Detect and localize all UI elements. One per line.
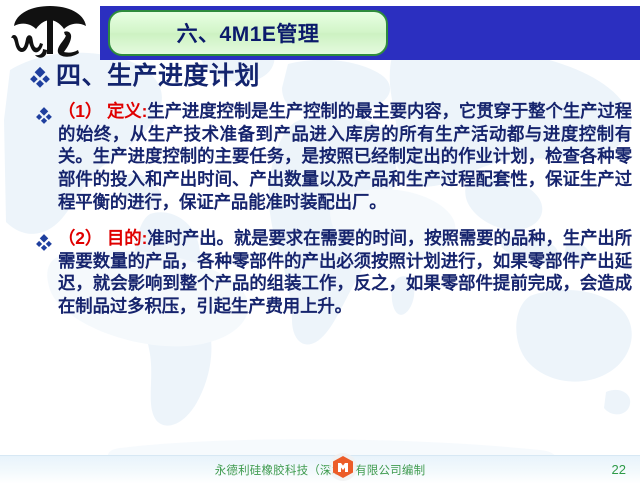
paragraph-label: （2） 目的: bbox=[58, 228, 147, 248]
diamond-bullet-icon bbox=[36, 232, 52, 256]
slide-banner-title: 六、4M1E管理 bbox=[177, 18, 320, 48]
footer-credit: 永德利硅橡胶科技（深圳）有限公司编制 bbox=[0, 462, 640, 478]
wl-umbrella-logo bbox=[6, 4, 94, 62]
title-banner-bar: 六、4M1E管理 bbox=[100, 6, 640, 60]
slide-content: 四、生产进度计划 （1） 定义:生产进度控制是生产控制的最主要内容，它贯穿于整个… bbox=[0, 62, 640, 318]
paragraph-label: （1） 定义: bbox=[58, 101, 147, 121]
hexagon-badge-logo bbox=[328, 452, 358, 482]
diamond-bullet-icon bbox=[36, 105, 52, 129]
paragraph-body: （1） 定义:生产进度控制是生产控制的最主要内容，它贯穿于整个生产过程的始终，从… bbox=[58, 100, 632, 213]
section-heading-row: 四、生产进度计划 bbox=[0, 62, 640, 94]
paragraph-purpose: （2） 目的:准时产出。就是要求在需要的时间，按照需要的品种，生产出所需要数量的… bbox=[0, 227, 640, 318]
page-number: 22 bbox=[612, 462, 626, 477]
footer-bar: 永德利硅橡胶科技（深圳）有限公司编制 bbox=[0, 455, 640, 484]
slide-canvas: 六、4M1E管理 四、生产进度计划 bbox=[0, 0, 640, 484]
title-chip: 六、4M1E管理 bbox=[108, 10, 388, 56]
diamond-bullet-icon bbox=[30, 64, 50, 94]
paragraph-definition: （1） 定义:生产进度控制是生产控制的最主要内容，它贯穿于整个生产过程的始终，从… bbox=[0, 100, 640, 213]
paragraph-body: （2） 目的:准时产出。就是要求在需要的时间，按照需要的品种，生产出所需要数量的… bbox=[58, 227, 632, 318]
section-heading-text: 四、生产进度计划 bbox=[56, 62, 260, 91]
